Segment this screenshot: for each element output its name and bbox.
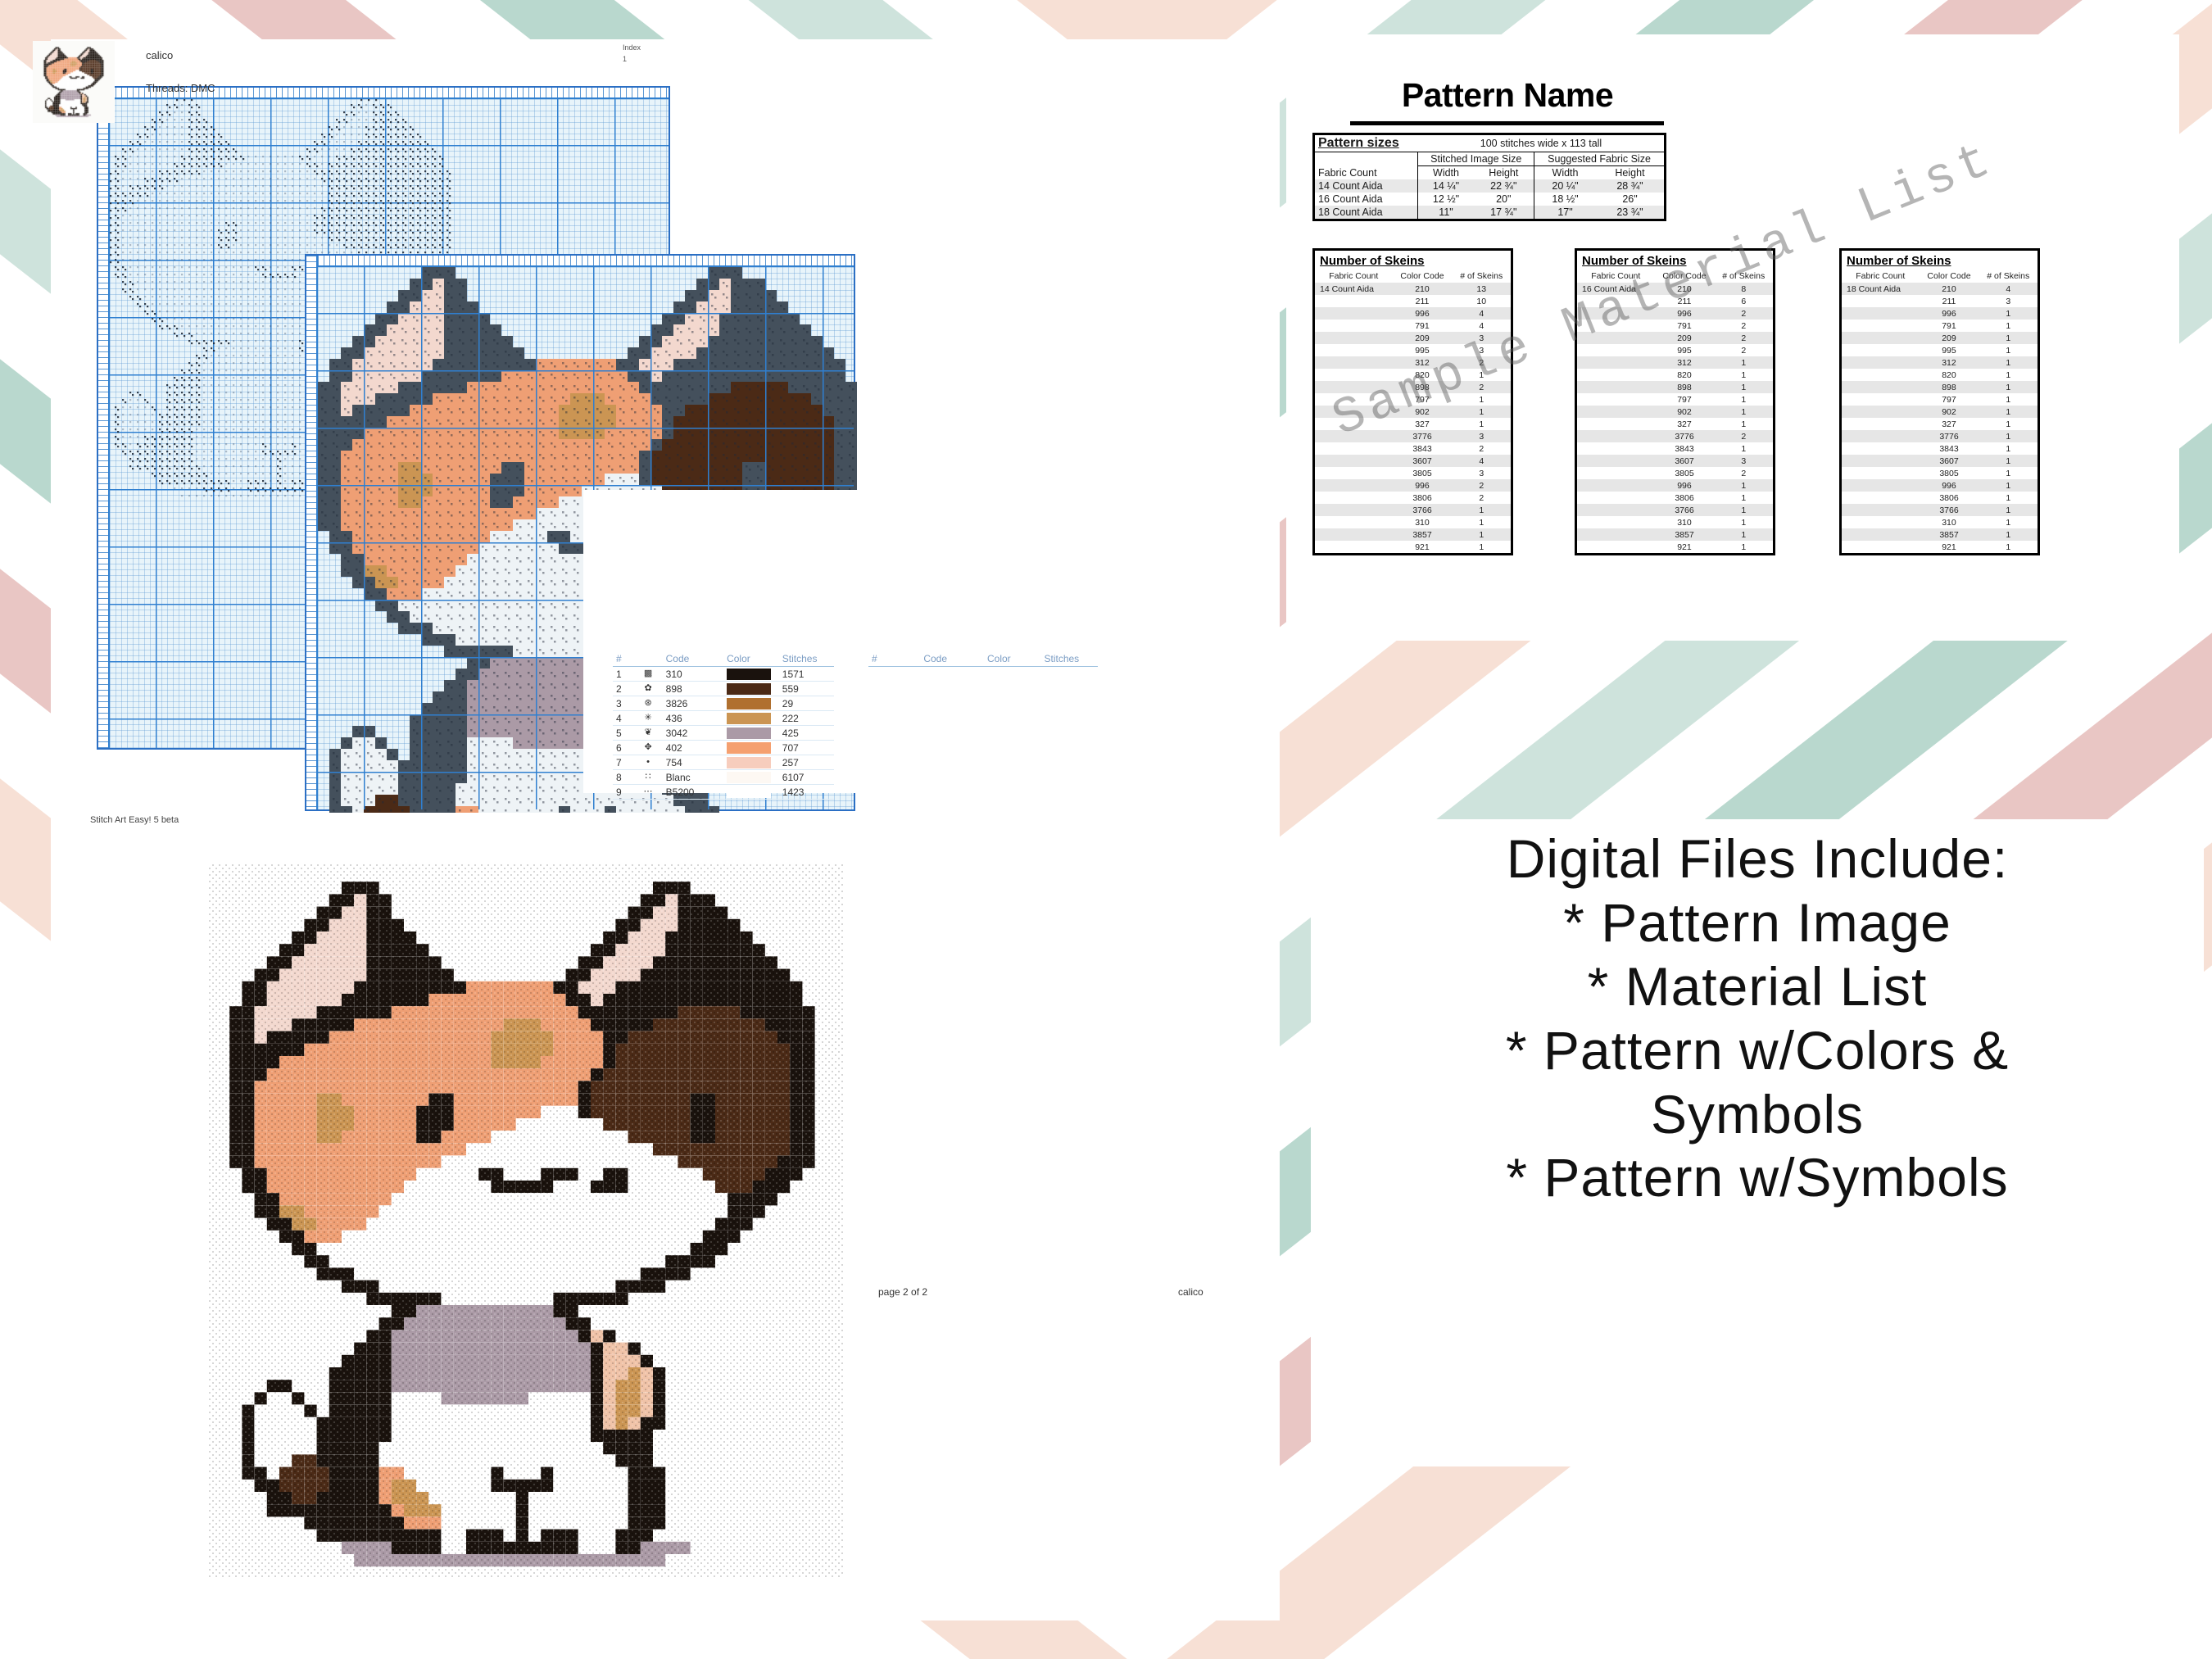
skeins-row: 37661 bbox=[1842, 504, 2037, 516]
skeins-fabric-count bbox=[1577, 369, 1655, 381]
skeins-color-code: 327 bbox=[1655, 418, 1715, 430]
skeins-fabric-count bbox=[1315, 504, 1393, 516]
skeins-count: 3 bbox=[1452, 332, 1511, 344]
skeins-fabric-count bbox=[1577, 320, 1655, 332]
skeins-count: 2 bbox=[1714, 332, 1773, 344]
legend-row-symbol-icon: ▩ bbox=[633, 667, 662, 682]
legend-row-number: 6 bbox=[613, 741, 633, 755]
skeins-table-16ct: Number of Skeins Fabric Count Color Code… bbox=[1575, 248, 1775, 555]
legend-row: 4✳436222 bbox=[613, 711, 834, 726]
skeins-color-code: 820 bbox=[1655, 369, 1715, 381]
chart-left-ruler bbox=[98, 88, 110, 748]
skeins-fabric-count bbox=[1577, 516, 1655, 528]
sub-fabric-count: Fabric Count bbox=[1314, 166, 1418, 180]
skeins-color-code: 209 bbox=[1393, 332, 1453, 344]
skeins-color-code: 3805 bbox=[1655, 467, 1715, 479]
legend-body: 1▩31015712✿8985593⊛3826294✳4362225❦30424… bbox=[613, 667, 834, 800]
skeins-count: 1 bbox=[1979, 442, 2037, 455]
legend2-col-color: Color bbox=[984, 651, 1040, 667]
stitch-count-label: 100 stitches wide x 113 tall bbox=[1418, 134, 1666, 152]
skeins-color-code: 797 bbox=[1655, 393, 1715, 406]
skeins-color-code: 820 bbox=[1920, 369, 1979, 381]
skeins-count: 1 bbox=[1979, 381, 2037, 393]
skeins-color-code: 3805 bbox=[1920, 467, 1979, 479]
skeins-count: 1 bbox=[1979, 393, 2037, 406]
skeins-row: 38571 bbox=[1577, 528, 1773, 541]
skeins-count: 6 bbox=[1714, 295, 1773, 307]
sizes-stitched-width: 11" bbox=[1418, 206, 1474, 220]
sizes-stitched-width: 12 ½" bbox=[1418, 193, 1474, 206]
skeins-fabric-count bbox=[1315, 344, 1393, 356]
skeins-color-code: 996 bbox=[1393, 479, 1453, 492]
legend-row: 1▩3101571 bbox=[613, 667, 834, 682]
skeins-count: 8 bbox=[1714, 283, 1773, 295]
legend-row-number: 8 bbox=[613, 770, 633, 785]
skeins-col-code-1: Color Code bbox=[1655, 270, 1715, 283]
skeins-count: 1 bbox=[1979, 369, 2037, 381]
pattern-sizes-table: Pattern sizes 100 stitches wide x 113 ta… bbox=[1312, 133, 1666, 221]
legend-header-row: # Code Color Stitches bbox=[613, 651, 834, 667]
skeins-row: 3122 bbox=[1315, 356, 1511, 369]
skeins-color-code: 3766 bbox=[1655, 504, 1715, 516]
skeins-count: 1 bbox=[1714, 516, 1773, 528]
skeins-header-row-0: Fabric Count Color Code # of Skeins bbox=[1315, 270, 1511, 283]
skeins-color-code: 3776 bbox=[1920, 430, 1979, 442]
skeins-col-count-0: # of Skeins bbox=[1452, 270, 1511, 283]
legend-row-number: 1 bbox=[613, 667, 633, 682]
skeins-table-18ct: Number of Skeins Fabric Count Color Code… bbox=[1839, 248, 2040, 555]
skeins-row: 9951 bbox=[1842, 344, 2037, 356]
legend-row: 8∷Blanc6107 bbox=[613, 770, 834, 785]
skeins-row: 37661 bbox=[1315, 504, 1511, 516]
skeins-color-code: 209 bbox=[1655, 332, 1715, 344]
skeins-fabric-count bbox=[1842, 479, 1920, 492]
skeins-row: 9961 bbox=[1842, 479, 2037, 492]
legend-row-symbol-icon: ⋯ bbox=[633, 785, 662, 800]
sub-height-1: Height bbox=[1474, 166, 1534, 180]
skeins-count: 1 bbox=[1714, 479, 1773, 492]
skeins-row: 38052 bbox=[1577, 467, 1773, 479]
skeins-row: 2116 bbox=[1577, 295, 1773, 307]
skeins-fabric-count bbox=[1315, 418, 1393, 430]
skeins-row: 3101 bbox=[1842, 516, 2037, 528]
legend-col-stitches: Stitches bbox=[779, 651, 834, 667]
skeins-row: 37763 bbox=[1315, 430, 1511, 442]
skeins-count: 1 bbox=[1714, 442, 1773, 455]
legend-col-number: # bbox=[613, 651, 633, 667]
skeins-count: 1 bbox=[1714, 381, 1773, 393]
legend-row-color-swatch bbox=[723, 755, 779, 770]
skeins-fabric-count bbox=[1842, 369, 1920, 381]
skeins-count: 3 bbox=[1714, 455, 1773, 467]
legend-row-code: 898 bbox=[663, 682, 723, 696]
legend-row-symbol-icon: ⊛ bbox=[633, 696, 662, 711]
skeins-row: 9962 bbox=[1577, 307, 1773, 320]
skeins-count: 4 bbox=[1452, 307, 1511, 320]
skeins-count: 1 bbox=[1714, 406, 1773, 418]
skeins-fabric-count bbox=[1842, 467, 1920, 479]
skeins-row: 3101 bbox=[1577, 516, 1773, 528]
skeins-color-code: 211 bbox=[1655, 295, 1715, 307]
sizes-fabric-count: 16 Count Aida bbox=[1314, 193, 1418, 206]
legend-row-code: 402 bbox=[663, 741, 723, 755]
skeins-row: 9021 bbox=[1315, 406, 1511, 418]
skeins-row: 3271 bbox=[1315, 418, 1511, 430]
skeins-color-code: 312 bbox=[1393, 356, 1453, 369]
skeins-color-code: 996 bbox=[1920, 479, 1979, 492]
skeins-fabric-count bbox=[1577, 479, 1655, 492]
skeins-row: 38432 bbox=[1315, 442, 1511, 455]
skeins-count: 3 bbox=[1452, 430, 1511, 442]
skeins-color-code: 3776 bbox=[1393, 430, 1453, 442]
skeins-row: 9021 bbox=[1842, 406, 2037, 418]
skeins-count: 3 bbox=[1452, 344, 1511, 356]
skeins-count: 2 bbox=[1452, 492, 1511, 504]
skeins-fabric-count bbox=[1842, 320, 1920, 332]
skeins-count: 1 bbox=[1452, 406, 1511, 418]
skeins-count: 2 bbox=[1452, 356, 1511, 369]
skeins-color-code: 791 bbox=[1920, 320, 1979, 332]
skeins-fabric-count bbox=[1315, 492, 1393, 504]
files-line-2: * Pattern w/Colors & bbox=[1311, 1019, 2204, 1083]
skeins-body-1: 16 Count Aida210821169962791220929952312… bbox=[1577, 283, 1773, 553]
sizes-fabric-height: 23 ¾" bbox=[1596, 206, 1666, 220]
sizes-row: 14 Count Aida14 ¼"22 ¾"20 ¼"28 ¾" bbox=[1314, 179, 1666, 193]
skeins-row: 3271 bbox=[1842, 418, 2037, 430]
skeins-count: 1 bbox=[1714, 528, 1773, 541]
skeins-color-code: 902 bbox=[1920, 406, 1979, 418]
sizes-fabric-width: 18 ½" bbox=[1534, 193, 1596, 206]
skeins-table-14ct: Number of Skeins Fabric Count Color Code… bbox=[1312, 248, 1513, 555]
skeins-count: 1 bbox=[1979, 307, 2037, 320]
skeins-count: 1 bbox=[1714, 356, 1773, 369]
legend-row-color-swatch bbox=[723, 711, 779, 726]
skeins-color-code: 3806 bbox=[1920, 492, 1979, 504]
skeins-row: 18 Count Aida2104 bbox=[1842, 283, 2037, 295]
skeins-color-code: 898 bbox=[1920, 381, 1979, 393]
skeins-fabric-count bbox=[1842, 442, 1920, 455]
skeins-grid-2: Fabric Count Color Code # of Skeins 18 C… bbox=[1842, 270, 2037, 553]
legend-design-name: calico bbox=[146, 49, 173, 61]
skeins-grid-0: Fabric Count Color Code # of Skeins 14 C… bbox=[1315, 270, 1511, 553]
skeins-fabric-count bbox=[1577, 307, 1655, 320]
skeins-color-code: 797 bbox=[1920, 393, 1979, 406]
skeins-row: 8201 bbox=[1842, 369, 2037, 381]
skeins-color-code: 3806 bbox=[1655, 492, 1715, 504]
skeins-row: 7971 bbox=[1842, 393, 2037, 406]
skeins-color-code: 3776 bbox=[1655, 430, 1715, 442]
skeins-color-code: 791 bbox=[1655, 320, 1715, 332]
skeins-color-code: 995 bbox=[1393, 344, 1453, 356]
legend2-col-code: Code bbox=[920, 651, 984, 667]
skeins-color-code: 921 bbox=[1655, 541, 1715, 553]
legend-row-symbol-icon: ✥ bbox=[633, 741, 662, 755]
skeins-col-code-2: Color Code bbox=[1920, 270, 1979, 283]
skeins-row: 7914 bbox=[1315, 320, 1511, 332]
sizes-fabric-width: 17" bbox=[1534, 206, 1596, 220]
sizes-stitched-width: 14 ¼" bbox=[1418, 179, 1474, 193]
skeins-fabric-count bbox=[1842, 541, 1920, 553]
legend-row-stitches: 6107 bbox=[779, 770, 834, 785]
skeins-fabric-count bbox=[1577, 406, 1655, 418]
skeins-count: 2 bbox=[1714, 344, 1773, 356]
skeins-count: 1 bbox=[1979, 356, 2037, 369]
skeins-fabric-count bbox=[1315, 430, 1393, 442]
legend-row-symbol-icon: ✿ bbox=[633, 682, 662, 696]
skeins-count: 10 bbox=[1452, 295, 1511, 307]
skeins-row: 38431 bbox=[1842, 442, 2037, 455]
sizes-fabric-height: 26" bbox=[1596, 193, 1666, 206]
legend-row-number: 9 bbox=[613, 785, 633, 800]
skeins-color-code: 820 bbox=[1393, 369, 1453, 381]
skeins-fabric-count bbox=[1315, 381, 1393, 393]
skeins-row: 3121 bbox=[1577, 356, 1773, 369]
skeins-fabric-count bbox=[1577, 295, 1655, 307]
legend-row-symbol-icon: ✳ bbox=[633, 711, 662, 726]
skeins-row: 3121 bbox=[1842, 356, 2037, 369]
skeins-heading-2: Number of Skeins bbox=[1842, 251, 2037, 270]
skeins-color-code: 996 bbox=[1655, 479, 1715, 492]
skeins-row: 16 Count Aida2108 bbox=[1577, 283, 1773, 295]
skeins-row: 2093 bbox=[1315, 332, 1511, 344]
skeins-color-code: 210 bbox=[1655, 283, 1715, 295]
skeins-count: 1 bbox=[1979, 332, 2037, 344]
skeins-row: 36071 bbox=[1842, 455, 2037, 467]
sizes-stitched-height: 22 ¾" bbox=[1474, 179, 1534, 193]
skeins-count: 1 bbox=[1452, 528, 1511, 541]
legend2-col-stitches: Stitches bbox=[1040, 651, 1098, 667]
legend-row-code: 436 bbox=[663, 711, 723, 726]
skeins-color-code: 211 bbox=[1920, 295, 1979, 307]
skeins-count: 13 bbox=[1452, 283, 1511, 295]
skeins-row: 2092 bbox=[1577, 332, 1773, 344]
skeins-row: 36074 bbox=[1315, 455, 1511, 467]
sub-width-1: Width bbox=[1418, 166, 1474, 180]
skeins-heading-1: Number of Skeins bbox=[1577, 251, 1773, 270]
legend-row-number: 4 bbox=[613, 711, 633, 726]
skeins-fabric-count bbox=[1315, 516, 1393, 528]
legend2-col-number: # bbox=[868, 651, 891, 667]
legend-row-stitches: 425 bbox=[779, 726, 834, 741]
skeins-row: 8982 bbox=[1315, 381, 1511, 393]
skeins-count: 1 bbox=[1714, 492, 1773, 504]
skeins-count: 3 bbox=[1979, 295, 2037, 307]
legend-row-color-swatch bbox=[723, 667, 779, 682]
skeins-color-code: 312 bbox=[1920, 356, 1979, 369]
skeins-fabric-count bbox=[1315, 541, 1393, 553]
skeins-color-code: 3843 bbox=[1393, 442, 1453, 455]
group-suggested-fabric-size: Suggested Fabric Size bbox=[1534, 152, 1666, 166]
skeins-row: 8201 bbox=[1577, 369, 1773, 381]
legend-row: 3⊛382629 bbox=[613, 696, 834, 711]
legend-col-code: Code bbox=[663, 651, 723, 667]
skeins-fabric-count bbox=[1842, 381, 1920, 393]
skeins-fabric-count bbox=[1315, 406, 1393, 418]
legend-row-color-swatch bbox=[723, 770, 779, 785]
skeins-color-code: 210 bbox=[1920, 283, 1979, 295]
skeins-row: 2113 bbox=[1842, 295, 2037, 307]
skeins-count: 1 bbox=[1452, 393, 1511, 406]
legend-row-color-swatch bbox=[723, 741, 779, 755]
sizes-heading: Pattern sizes bbox=[1314, 134, 1418, 152]
legend-row-code: B5200 bbox=[663, 785, 723, 800]
sizes-blank-cell bbox=[1314, 152, 1418, 166]
skeins-row: 38053 bbox=[1315, 467, 1511, 479]
skeins-row: 38061 bbox=[1842, 492, 2037, 504]
legend-row-color-swatch bbox=[723, 726, 779, 741]
skeins-color-code: 996 bbox=[1393, 307, 1453, 320]
legend-row-stitches: 1571 bbox=[779, 667, 834, 682]
skeins-fabric-count bbox=[1842, 332, 1920, 344]
skeins-grid-1: Fabric Count Color Code # of Skeins 16 C… bbox=[1577, 270, 1773, 553]
sub-width-2: Width bbox=[1534, 166, 1596, 180]
skeins-fabric-count bbox=[1577, 430, 1655, 442]
skeins-fabric-count bbox=[1842, 528, 1920, 541]
legend-row-color-swatch bbox=[723, 696, 779, 711]
skeins-color-code: 310 bbox=[1920, 516, 1979, 528]
skeins-row: 38051 bbox=[1842, 467, 2037, 479]
skeins-row: 8981 bbox=[1577, 381, 1773, 393]
skeins-color-code: 210 bbox=[1393, 283, 1453, 295]
skeins-color-code: 3805 bbox=[1393, 467, 1453, 479]
skeins-row: 9962 bbox=[1315, 479, 1511, 492]
skeins-fabric-count bbox=[1842, 455, 1920, 467]
skeins-color-code: 902 bbox=[1393, 406, 1453, 418]
skeins-row: 38062 bbox=[1315, 492, 1511, 504]
legend-row-symbol-icon: • bbox=[633, 755, 662, 770]
skeins-row: 9211 bbox=[1315, 541, 1511, 553]
legend-row-stitches: 707 bbox=[779, 741, 834, 755]
skeins-row: 9021 bbox=[1577, 406, 1773, 418]
legend2-col-symbol bbox=[891, 651, 921, 667]
skeins-count: 1 bbox=[1452, 516, 1511, 528]
legend-row: 7•754257 bbox=[613, 755, 834, 770]
skeins-row: 36073 bbox=[1577, 455, 1773, 467]
skeins-count: 1 bbox=[1979, 479, 2037, 492]
skeins-row: 21110 bbox=[1315, 295, 1511, 307]
legend-row-number: 3 bbox=[613, 696, 633, 711]
skeins-fabric-count bbox=[1315, 479, 1393, 492]
skeins-count: 1 bbox=[1714, 369, 1773, 381]
skeins-col-fabric-1: Fabric Count bbox=[1577, 270, 1655, 283]
skeins-color-code: 995 bbox=[1655, 344, 1715, 356]
skeins-fabric-count bbox=[1842, 344, 1920, 356]
skeins-count: 2 bbox=[1452, 442, 1511, 455]
group-stitched-image-size: Stitched Image Size bbox=[1418, 152, 1534, 166]
skeins-color-code: 898 bbox=[1655, 381, 1715, 393]
skeins-color-code: 3843 bbox=[1920, 442, 1979, 455]
skeins-count: 1 bbox=[1714, 393, 1773, 406]
skeins-color-code: 3607 bbox=[1920, 455, 1979, 467]
skeins-fabric-count bbox=[1315, 369, 1393, 381]
skeins-count: 4 bbox=[1979, 283, 2037, 295]
skeins-row: 3271 bbox=[1577, 418, 1773, 430]
skeins-fabric-count bbox=[1577, 528, 1655, 541]
skeins-color-code: 3857 bbox=[1920, 528, 1979, 541]
skeins-fabric-count bbox=[1315, 356, 1393, 369]
skeins-row: 9211 bbox=[1577, 541, 1773, 553]
skeins-fabric-count bbox=[1842, 393, 1920, 406]
sizes-body: 14 Count Aida14 ¼"22 ¾"20 ¼"28 ¾"16 Coun… bbox=[1314, 179, 1666, 220]
thread-legend-table: # Code Color Stitches 1▩31015712✿8985593… bbox=[613, 651, 834, 800]
skeins-count: 2 bbox=[1714, 467, 1773, 479]
skeins-fabric-count bbox=[1842, 295, 1920, 307]
skeins-row: 9961 bbox=[1577, 479, 1773, 492]
legend-row-stitches: 222 bbox=[779, 711, 834, 726]
skeins-count: 1 bbox=[1979, 418, 2037, 430]
skeins-count: 1 bbox=[1979, 516, 2037, 528]
skeins-fabric-count bbox=[1577, 332, 1655, 344]
skeins-count: 2 bbox=[1714, 430, 1773, 442]
skeins-header-row-2: Fabric Count Color Code # of Skeins bbox=[1842, 270, 2037, 283]
skeins-row: 37661 bbox=[1577, 504, 1773, 516]
skeins-fabric-count bbox=[1577, 467, 1655, 479]
skeins-color-code: 921 bbox=[1920, 541, 1979, 553]
skeins-fabric-count bbox=[1842, 430, 1920, 442]
skeins-count: 1 bbox=[1979, 528, 2037, 541]
skeins-fabric-count: 16 Count Aida bbox=[1577, 283, 1655, 295]
skeins-fabric-count bbox=[1577, 504, 1655, 516]
skeins-color-code: 995 bbox=[1920, 344, 1979, 356]
skeins-count: 4 bbox=[1452, 455, 1511, 467]
skeins-body-2: 18 Count Aida210421139961791120919951312… bbox=[1842, 283, 2037, 553]
skeins-fabric-count bbox=[1577, 393, 1655, 406]
legend-row-number: 2 bbox=[613, 682, 633, 696]
sizes-row: 16 Count Aida12 ½"20"18 ½"26" bbox=[1314, 193, 1666, 206]
skeins-row: 8201 bbox=[1315, 369, 1511, 381]
sizes-fabric-count: 14 Count Aida bbox=[1314, 179, 1418, 193]
skeins-count: 1 bbox=[1979, 492, 2037, 504]
index-number: 1 bbox=[623, 55, 627, 63]
skeins-count: 1 bbox=[1979, 455, 2037, 467]
skeins-fabric-count: 18 Count Aida bbox=[1842, 283, 1920, 295]
legend-row: 5❦3042425 bbox=[613, 726, 834, 741]
sizes-fabric-count: 18 Count Aida bbox=[1314, 206, 1418, 220]
design-name-footer: calico bbox=[1178, 1286, 1203, 1298]
skeins-fabric-count bbox=[1315, 320, 1393, 332]
skeins-fabric-count bbox=[1577, 381, 1655, 393]
skeins-fabric-count bbox=[1842, 504, 1920, 516]
skeins-fabric-count: 14 Count Aida bbox=[1315, 283, 1393, 295]
skeins-count: 4 bbox=[1452, 320, 1511, 332]
skeins-count: 1 bbox=[1979, 344, 2037, 356]
skeins-row: 7971 bbox=[1577, 393, 1773, 406]
skeins-fabric-count bbox=[1577, 418, 1655, 430]
skeins-color-code: 3766 bbox=[1393, 504, 1453, 516]
sizes-title-row: Pattern sizes 100 stitches wide x 113 ta… bbox=[1314, 134, 1666, 152]
skeins-row: 37762 bbox=[1577, 430, 1773, 442]
skeins-row: 9211 bbox=[1842, 541, 2037, 553]
skeins-row: 7971 bbox=[1315, 393, 1511, 406]
skeins-count: 1 bbox=[1452, 418, 1511, 430]
legend-header-row-2: # Code Color Stitches bbox=[868, 651, 1098, 667]
skeins-count: 1 bbox=[1979, 406, 2037, 418]
skeins-count: 3 bbox=[1452, 467, 1511, 479]
legend-row: 9⋯B52001423 bbox=[613, 785, 834, 800]
skeins-fabric-count bbox=[1842, 492, 1920, 504]
skeins-count: 1 bbox=[1979, 541, 2037, 553]
legend-row-code: 754 bbox=[663, 755, 723, 770]
legend-row-symbol-icon: ❦ bbox=[633, 726, 662, 741]
sizes-row: 18 Count Aida11"17 ¾"17"23 ¾" bbox=[1314, 206, 1666, 220]
skeins-row: 37761 bbox=[1842, 430, 2037, 442]
skeins-color-code: 996 bbox=[1920, 307, 1979, 320]
legend-col-color: Color bbox=[723, 651, 779, 667]
skeins-fabric-count bbox=[1315, 295, 1393, 307]
files-heading: Digital Files Include: bbox=[1311, 827, 2204, 891]
skeins-row: 8981 bbox=[1842, 381, 2037, 393]
skeins-count: 2 bbox=[1452, 479, 1511, 492]
